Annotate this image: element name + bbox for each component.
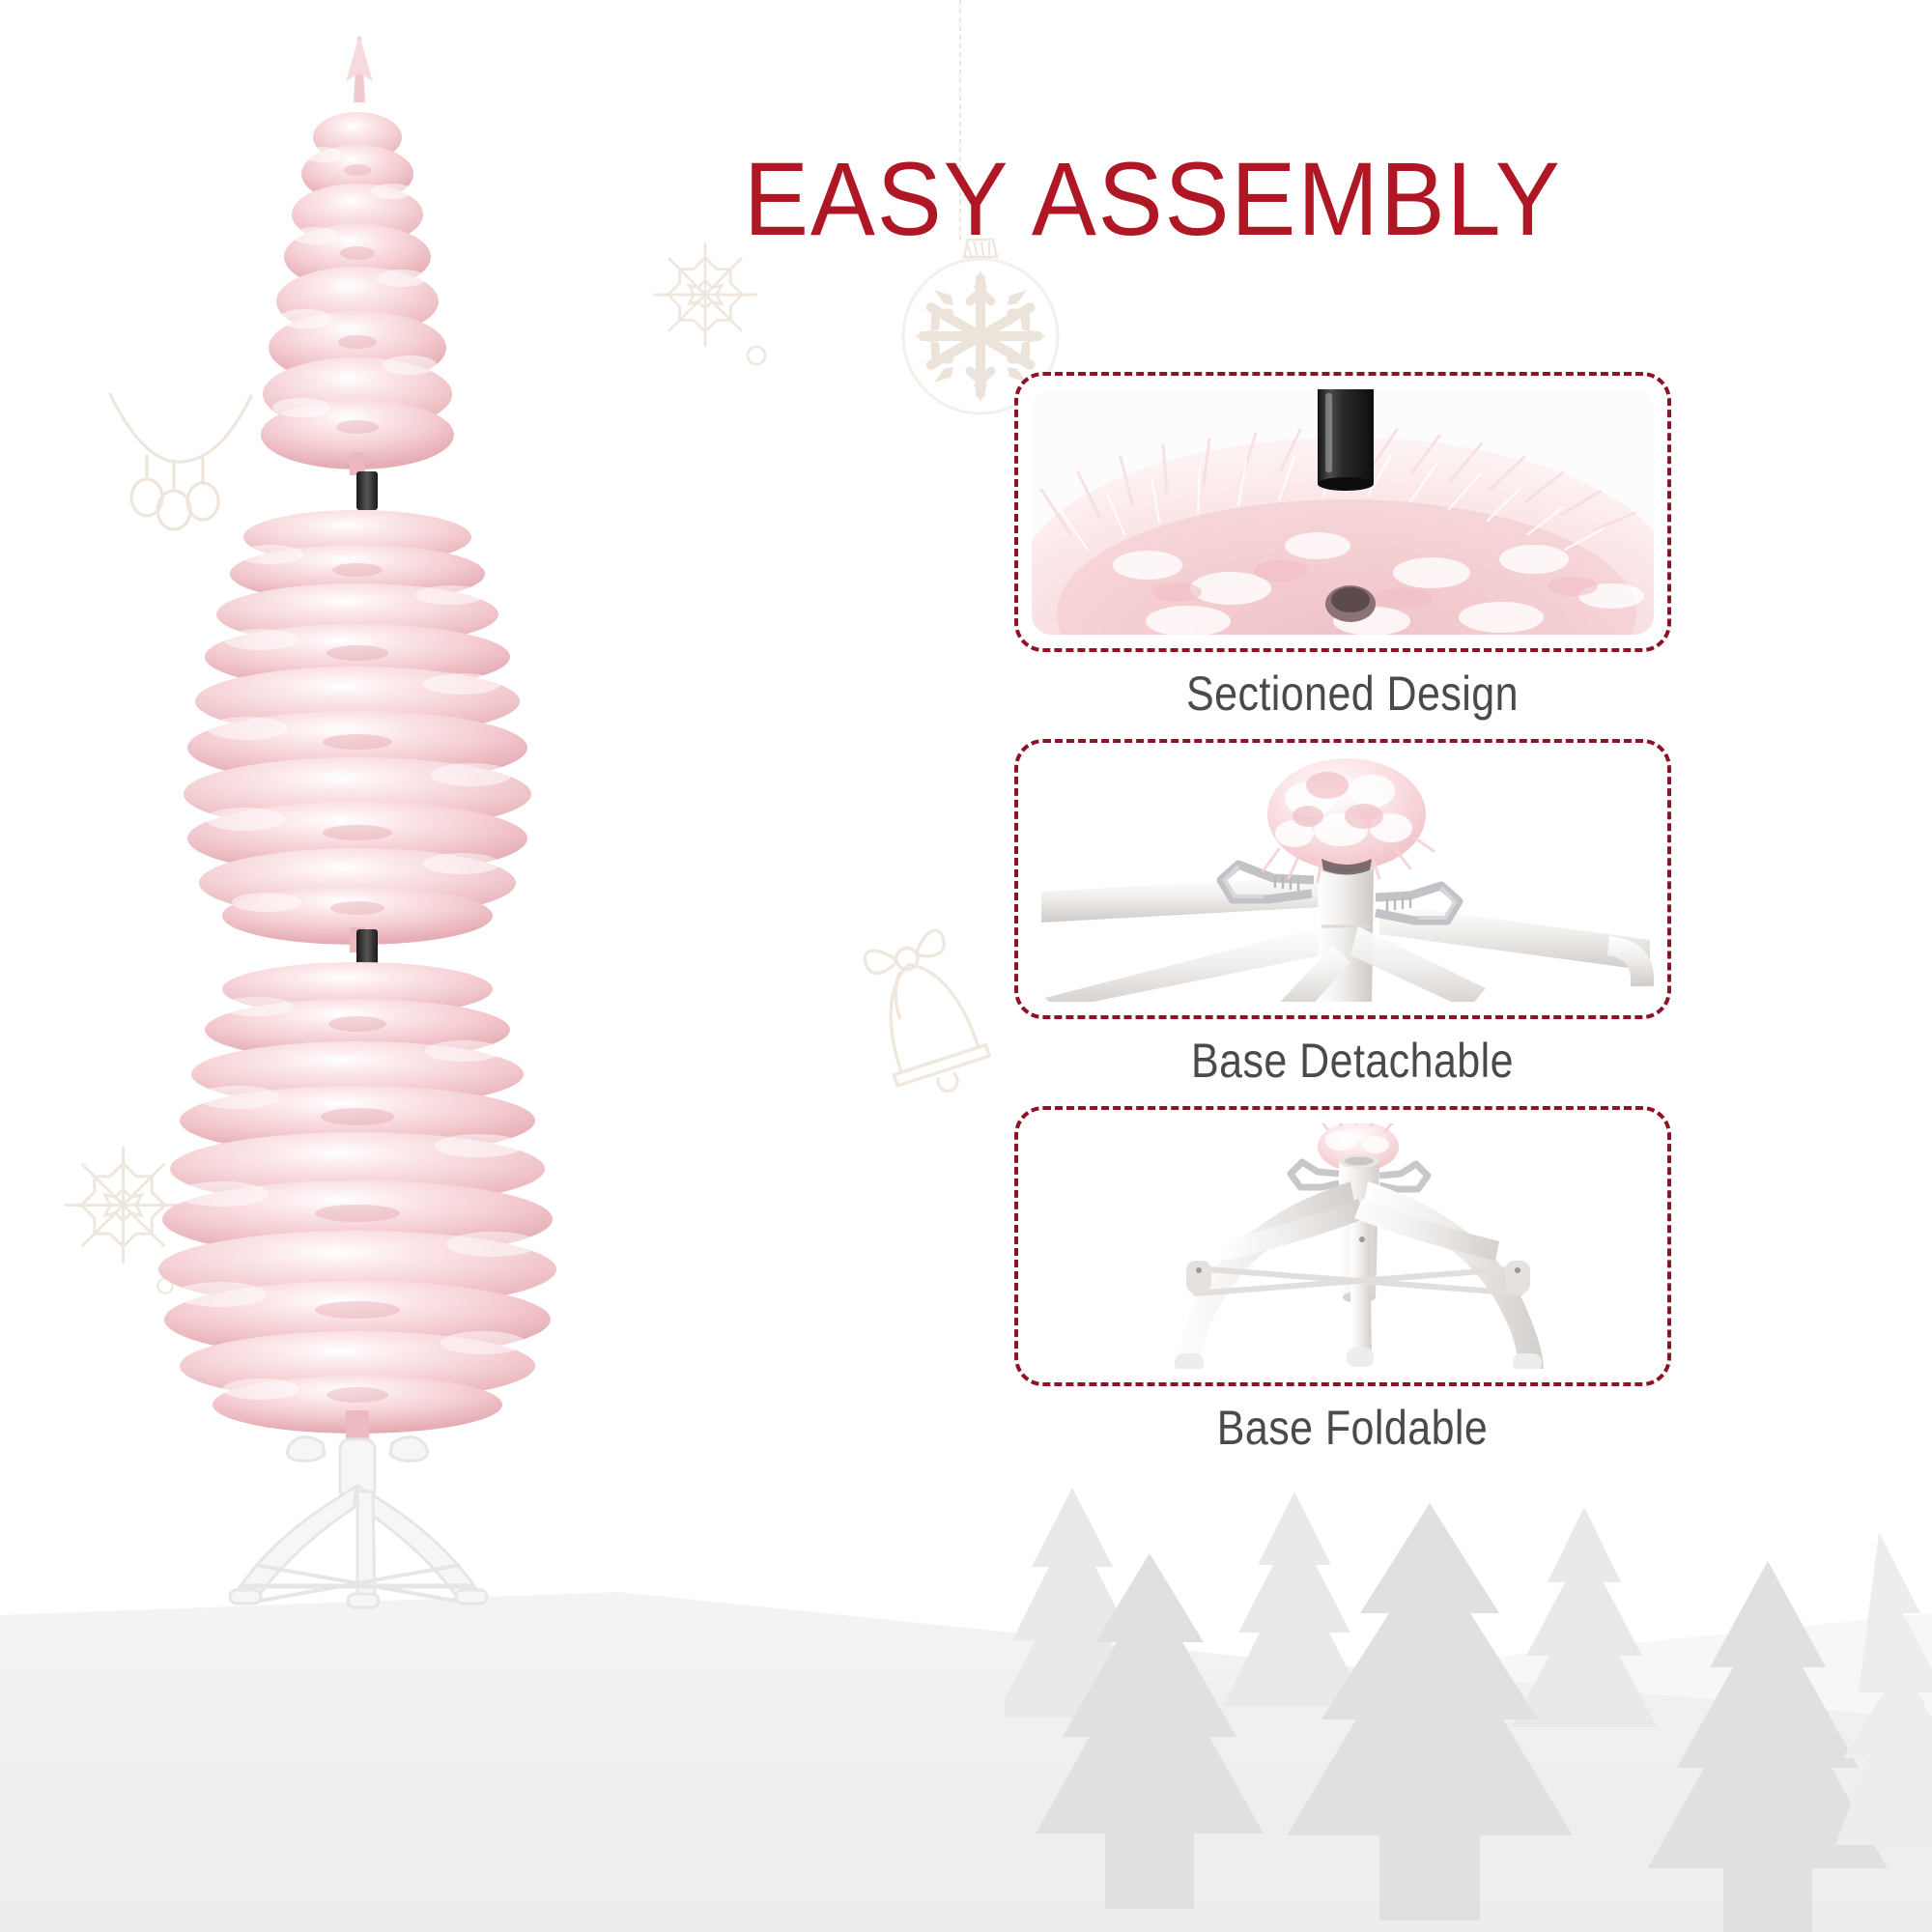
snowflake-small-dot [744, 343, 769, 368]
flocked-branch-collar-with-black-pole-photo [1032, 389, 1654, 635]
white-metal-stand-thumbscrews-photo [1032, 756, 1654, 1002]
feature-card-2 [1014, 739, 1671, 1019]
feature-base-detachable: Base Detachable [1014, 739, 1690, 1089]
bell-with-bow-outline [826, 918, 1019, 1096]
feature-label-base-detachable: Base Detachable [1062, 1033, 1643, 1089]
tree-bottom-section [116, 947, 618, 1449]
product-feature-banner: EASY ASSEMBLY [0, 0, 1932, 1932]
folding-tripod-stand-photo [1032, 1123, 1654, 1369]
page-title: EASY ASSEMBLY [744, 147, 1822, 251]
tree-middle-section [116, 502, 618, 966]
feature-label-sectioned-design: Sectioned Design [1062, 666, 1643, 722]
feature-card-3 [1014, 1106, 1671, 1386]
tree-stand [116, 1410, 618, 1623]
feature-base-foldable: Base Foldable [1014, 1106, 1690, 1456]
tree-top-section [116, 29, 618, 502]
feature-list: Sectioned Design [1014, 372, 1690, 1473]
feature-card-1 [1014, 372, 1671, 652]
feature-label-base-foldable: Base Foldable [1062, 1400, 1643, 1456]
feature-sectioned-design: Sectioned Design [1014, 372, 1690, 722]
pink-flocked-pencil-christmas-tree [116, 19, 618, 1913]
